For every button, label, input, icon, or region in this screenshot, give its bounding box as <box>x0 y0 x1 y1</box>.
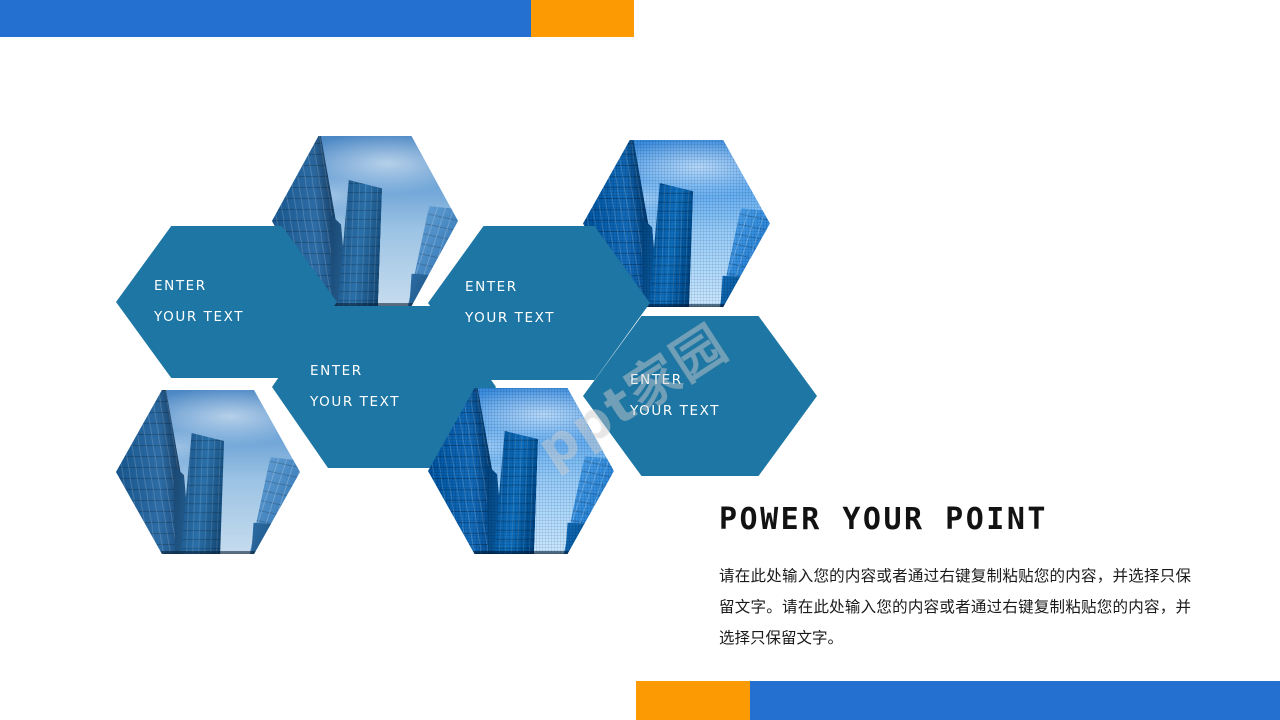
bottom-accent-bar-orange <box>636 681 750 720</box>
hex-photo-bottom-left[interactable] <box>116 390 300 554</box>
building-base <box>116 551 300 554</box>
hex-label-line2: YOUR TEXT <box>154 311 244 325</box>
top-accent-bar-orange <box>531 0 634 37</box>
body-paragraph: 请在此处输入您的内容或者通过右键复制粘贴您的内容，并选择只保留文字。请在此处输入… <box>719 561 1191 654</box>
top-accent-bar-blue <box>0 0 531 37</box>
bottom-accent-bar-blue <box>750 681 1280 720</box>
hex-label-line1: ENTER <box>310 365 363 379</box>
hex-label-line2: YOUR TEXT <box>310 396 400 410</box>
building-far <box>251 523 291 554</box>
page-title: POWER YOUR POINT <box>719 505 1199 535</box>
hex-label-line1: ENTER <box>154 280 207 294</box>
photo-texture <box>428 388 614 554</box>
hex-photo-bottom-mid[interactable] <box>428 388 614 554</box>
hex-text-body: ENTER YOUR TEXT <box>583 316 817 476</box>
content-text-block: POWER YOUR POINT 请在此处输入您的内容或者通过右键复制粘贴您的内… <box>719 505 1199 654</box>
hex-label-line2: YOUR TEXT <box>465 312 555 326</box>
hex-label-line1: ENTER <box>630 374 683 388</box>
skyscraper-photo <box>428 388 614 554</box>
hex-label-line2: YOUR TEXT <box>630 405 720 419</box>
skyscraper-photo <box>116 390 300 554</box>
hex-label-line1: ENTER <box>465 281 518 295</box>
slide-canvas: ENTER YOUR TEXT ENTER YOUR TEXT ENTER YO… <box>0 0 1280 720</box>
